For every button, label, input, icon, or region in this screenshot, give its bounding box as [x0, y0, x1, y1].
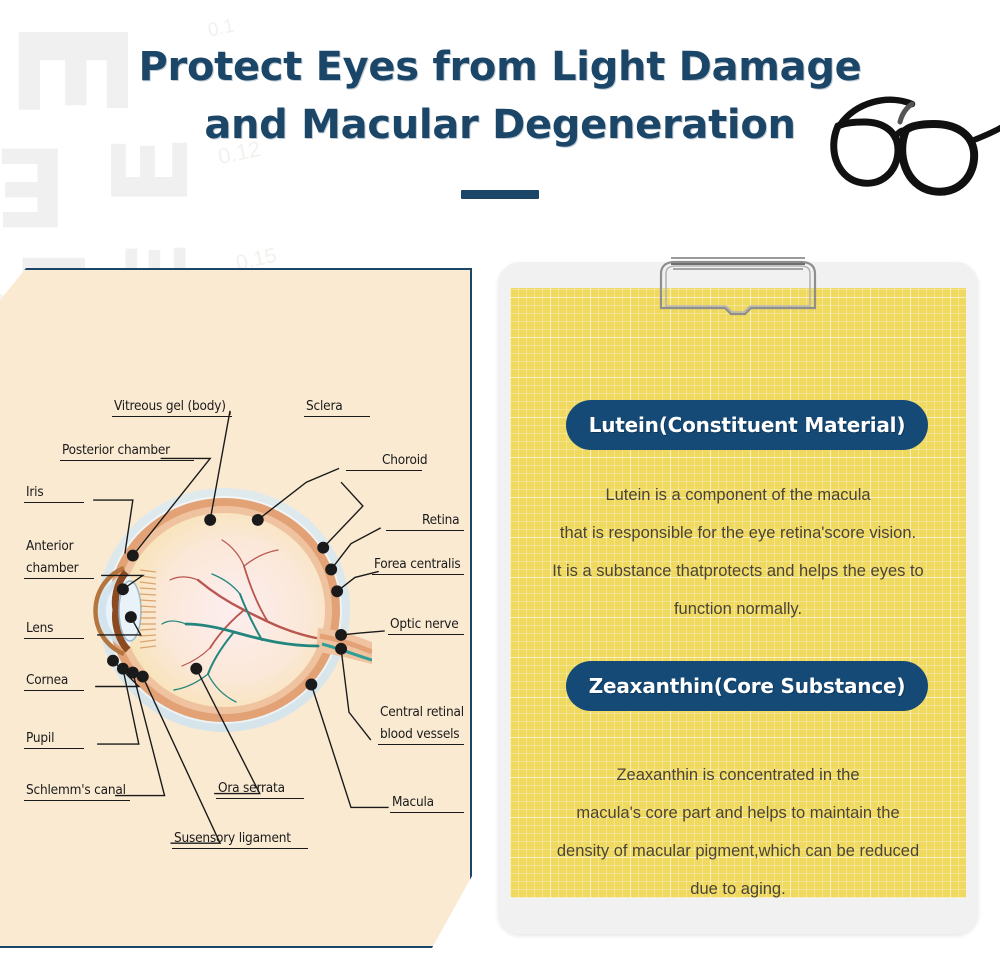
eye-label-vitreous-gel: Vitreous gel (body)	[114, 398, 226, 414]
title-divider	[461, 190, 539, 199]
eye-label-cornea: Cornea	[26, 672, 68, 688]
eye-label-anterior: Anterior	[26, 538, 73, 554]
eye-label-underline	[372, 574, 464, 575]
eye-label-underline	[24, 800, 130, 801]
eye-label-schlemms-canal: Schlemm's canal	[26, 782, 126, 798]
eye-label-sclera: Sclera	[306, 398, 342, 414]
lutein-body-line: It is a substance thatprotects and helps…	[520, 552, 956, 590]
eye-label-blood-vessels: blood vessels	[380, 726, 459, 742]
eye-label-macula: Macula	[392, 794, 434, 810]
eye-label-underline	[24, 578, 94, 579]
clipboard-grid-paper: Lutein(Constituent Material) Lutein is a…	[510, 288, 966, 898]
eye-label-underline	[216, 798, 304, 799]
eye-label-underline	[386, 530, 464, 531]
eye-label-pupil: Pupil	[26, 730, 54, 746]
eye-label-ora-serrata: Ora serrata	[218, 780, 285, 796]
zeaxanthin-body-line: density of macular pigment,which can be …	[520, 832, 956, 870]
eye-label-choroid: Choroid	[382, 452, 427, 468]
eye-label-central-retinal: Central retinal	[380, 704, 464, 720]
zeaxanthin-heading-pill: Zeaxanthin(Core Substance)	[566, 661, 928, 711]
eye-label-susensory-ligament: Susensory ligament	[174, 830, 291, 846]
lutein-body-line: function normally.	[520, 590, 956, 628]
page-title-line-1: Protect Eyes from Light Damage	[139, 44, 862, 90]
eye-label-underline	[346, 470, 422, 471]
lutein-heading-pill: Lutein(Constituent Material)	[566, 400, 928, 450]
infographic-page: E E E E E E E E E E E E E E E E E E E 0.…	[0, 0, 1000, 978]
eye-diagram-panel: Vitreous gel (body) Sclera Posterior cha…	[0, 268, 472, 948]
eye-label-underline	[378, 744, 464, 745]
zeaxanthin-body-text: Zeaxanthin is concentrated in the macula…	[520, 756, 956, 898]
eye-label-underline	[390, 812, 464, 813]
eye-label-underline	[60, 460, 194, 461]
zeaxanthin-heading-label: Zeaxanthin(Core Substance)	[589, 674, 906, 698]
eye-label-underline	[24, 638, 84, 639]
zeaxanthin-body-line: due to aging.	[520, 870, 956, 898]
eye-label-posterior-chamber: Posterior chamber	[62, 442, 170, 458]
eye-label-retina: Retina	[422, 512, 459, 528]
eye-label-underline	[112, 416, 232, 417]
zeaxanthin-body-line: macula's core part and helps to maintain…	[520, 794, 956, 832]
lutein-body-line: Lutein is a component of the macula	[520, 476, 956, 514]
eye-label-chamber: chamber	[26, 560, 78, 576]
eyeglasses-icon	[826, 78, 1000, 198]
lutein-body-line: that is responsible for the eye retina's…	[520, 514, 956, 552]
eye-label-underline	[172, 848, 308, 849]
eye-label-lens: Lens	[26, 620, 53, 636]
eye-label-underline	[304, 416, 370, 417]
eye-label-underline	[24, 502, 84, 503]
eye-label-iris: Iris	[26, 484, 43, 500]
lutein-body-text: Lutein is a component of the macula that…	[520, 476, 956, 628]
eye-label-underline	[24, 690, 84, 691]
lutein-heading-label: Lutein(Constituent Material)	[589, 413, 906, 437]
eye-label-forea-centralis: Forea centralis	[374, 556, 461, 572]
clipboard-panel: Lutein(Constituent Material) Lutein is a…	[498, 262, 978, 934]
eye-label-underline	[388, 634, 464, 635]
zeaxanthin-body-line: Zeaxanthin is concentrated in the	[520, 756, 956, 794]
page-header: Protect Eyes from Light Damage and Macul…	[0, 0, 1000, 250]
eye-label-underline	[24, 748, 84, 749]
eye-label-optic-nerve: Optic nerve	[390, 616, 459, 632]
